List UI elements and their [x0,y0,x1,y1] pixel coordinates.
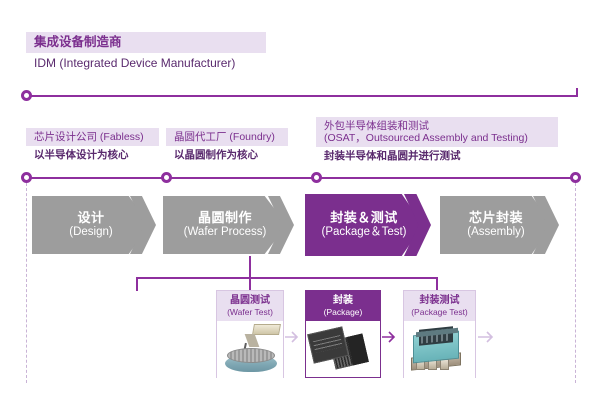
stage-wafer-process-label: 晶圆制作 (Wafer Process) [184,211,267,239]
idm-subtitle: IDM (Integrated Device Manufacturer) [26,53,266,72]
substep-wafer-test-en: (Wafer Test) [219,308,281,318]
connector-drop-main [249,256,251,278]
substep-package-test-cn: 封装测试 [406,295,473,307]
chip-package-icon [306,321,380,376]
substep-package[interactable]: 封装 (Package) [305,290,381,378]
connector-drop-right [436,277,438,291]
connector-drop-center [249,277,251,291]
idm-header: 集成设备制造商 [26,32,266,53]
substep-package-cn: 封装 [308,295,378,307]
role-rail-node-fabless [21,172,32,183]
stage-assembly-cn: 芯片封装 [467,211,525,226]
stage-wafer-process-en: (Wafer Process) [184,226,267,239]
stage-package-test-en: (Package＆Test) [321,226,406,239]
substep-arrow-3-icon [478,330,498,344]
substep-wafer-test-caption: 晶圆测试 (Wafer Test) [217,291,283,321]
idm-rail-node-start [21,90,32,101]
divider-guide-left [26,183,27,383]
role-tag-fabless: 芯片设计公司 (Fabless) 以半导体设计为核心 [26,128,159,164]
stage-design-en: (Design) [69,226,112,239]
role-header-foundry: 晶圆代工厂 (Foundry) [166,128,288,146]
stage-assembly-en: (Assembly) [467,226,525,239]
stage-design[interactable]: 设计 (Design) [32,196,150,254]
stage-assembly[interactable]: 芯片封装 (Assembly) [440,196,552,254]
substep-wafer-test[interactable]: 晶圆测试 (Wafer Test) [216,290,284,378]
stage-package-test-cn: 封装＆测试 [321,211,406,226]
idm-tag: 集成设备制造商 IDM (Integrated Device Manufactu… [26,32,266,72]
role-header-osat-line1: 外包半导体组装和测试 [324,120,429,132]
stage-assembly-label: 芯片封装 (Assembly) [467,211,525,239]
role-rail-node-osat [311,172,322,183]
wafer-prober-icon [217,321,283,378]
substep-package-test[interactable]: 封装测试 (Package Test) [403,290,476,378]
probe-neck-shape [245,334,260,347]
substep-arrow-2-icon [382,330,400,344]
substep-package-caption: 封装 (Package) [306,291,380,321]
role-rail [26,177,576,179]
chip-marking-shape [313,335,343,353]
connector-drop-left [136,277,138,291]
connector-horizontal [136,277,438,279]
stage-wafer-process[interactable]: 晶圆制作 (Wafer Process) [163,196,287,254]
role-header-osat-line2: (OSAT，Outsourced Assembly and Testing) [324,132,528,144]
stage-package-test[interactable]: 封装＆测试 (Package＆Test) [305,194,423,256]
role-subtitle-fabless: 以半导体设计为核心 [26,146,159,164]
stage-wafer-process-cn: 晶圆制作 [184,211,267,226]
role-rail-node-foundry [161,172,172,183]
socket-leg-3-shape [440,359,449,370]
idm-rail-end-cap [576,88,578,97]
divider-guide-right [575,183,576,383]
probe-arm-shape [252,324,281,335]
role-subtitle-foundry: 以晶圆制作为核心 [166,146,288,164]
role-header-osat: 外包半导体组装和测试 (OSAT，Outsourced Assembly and… [316,117,558,147]
stage-design-cn: 设计 [69,211,112,226]
diagram-canvas: 集成设备制造商 IDM (Integrated Device Manufactu… [0,0,600,402]
test-socket-icon [404,321,475,378]
substep-arrow-1-icon [285,330,303,344]
role-header-fabless: 芯片设计公司 (Fabless) [26,128,159,146]
substep-package-test-en: (Package Test) [406,308,473,318]
role-subtitle-osat: 封装半导体和晶圆并进行测试 [316,147,558,165]
role-tag-osat: 外包半导体组装和测试 (OSAT，Outsourced Assembly and… [316,117,558,164]
stage-design-label: 设计 (Design) [69,211,112,239]
role-rail-node-end [570,172,581,183]
substep-wafer-test-cn: 晶圆测试 [219,295,281,307]
substep-package-test-caption: 封装测试 (Package Test) [404,291,475,321]
idm-rail [26,95,578,97]
role-tag-foundry: 晶圆代工厂 (Foundry) 以晶圆制作为核心 [166,128,288,164]
substep-package-en: (Package) [308,308,378,318]
stage-package-test-label: 封装＆测试 (Package＆Test) [321,211,406,239]
chip-dark-half-shape [347,334,369,366]
